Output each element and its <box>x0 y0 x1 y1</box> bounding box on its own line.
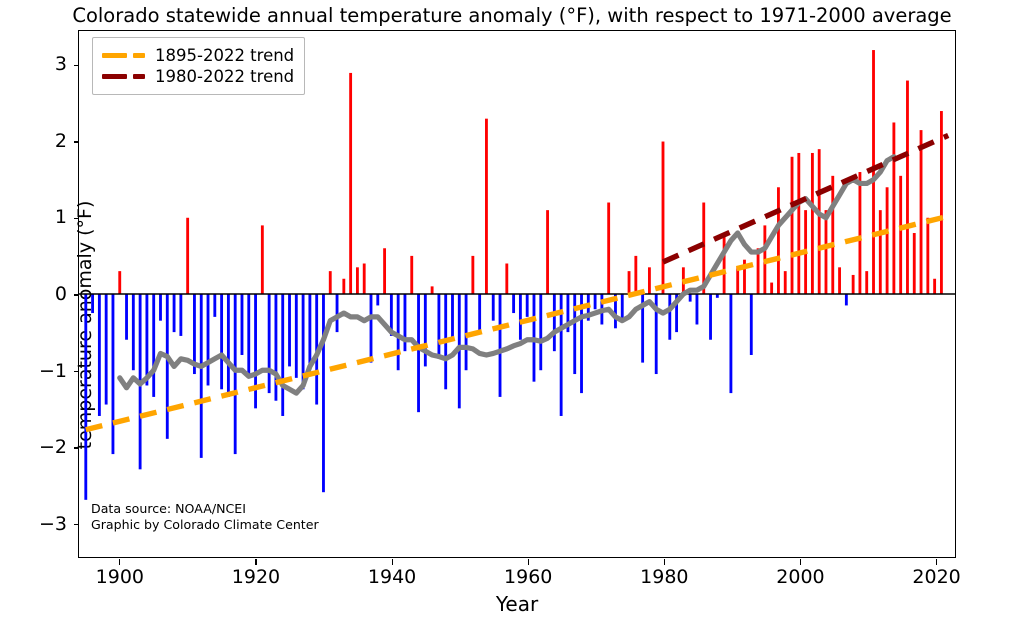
bar <box>173 294 176 332</box>
bar <box>886 187 889 294</box>
bar <box>696 294 699 324</box>
bar <box>254 294 257 408</box>
plot-area: temperature anomaly (°F) −3−2−1012319001… <box>78 30 956 558</box>
y-tick-label: 3 <box>27 55 67 74</box>
bar <box>356 267 359 294</box>
bar <box>797 153 800 294</box>
bar <box>940 111 943 294</box>
bar <box>200 294 203 458</box>
bar <box>662 142 665 294</box>
bar <box>465 294 468 370</box>
bar <box>689 294 692 302</box>
trend-line-long <box>86 216 948 429</box>
legend-swatch-trend-recent <box>102 70 146 84</box>
bar <box>84 294 87 500</box>
x-tick-mark <box>255 559 256 565</box>
page-title: Colorado statewide annual temperature an… <box>0 4 1024 27</box>
bar-series <box>84 50 942 500</box>
bar <box>648 267 651 294</box>
bar <box>342 279 345 294</box>
x-tick-mark <box>392 559 393 565</box>
bar <box>241 294 244 355</box>
bar <box>485 119 488 294</box>
y-tick-label: 0 <box>27 285 67 304</box>
x-tick-mark <box>936 559 937 565</box>
bar <box>539 294 542 370</box>
x-tick-label: 1900 <box>80 567 160 588</box>
bar <box>926 218 929 294</box>
bar <box>417 294 420 412</box>
bar <box>91 294 94 313</box>
bar <box>770 283 773 294</box>
bar <box>261 225 264 294</box>
bar <box>179 294 182 336</box>
bar <box>526 294 529 317</box>
bar <box>145 294 148 385</box>
bar <box>892 122 895 294</box>
chart-canvas <box>79 31 955 557</box>
bar <box>424 294 427 366</box>
bar <box>159 294 162 321</box>
bar <box>553 294 556 351</box>
bar <box>213 294 216 317</box>
bar <box>152 294 155 397</box>
bar <box>220 294 223 389</box>
legend-label-trend-recent: 1980-2022 trend <box>155 67 294 86</box>
bar <box>709 294 712 340</box>
bar <box>492 294 495 321</box>
bar <box>913 233 916 294</box>
bar <box>295 294 298 378</box>
bar <box>478 294 481 332</box>
x-tick-mark <box>528 559 529 565</box>
y-tick-label: 2 <box>27 132 67 151</box>
source-note: Data source: NOAA/NCEI Graphic by Colora… <box>91 501 319 532</box>
x-tick-label: 2020 <box>897 567 977 588</box>
bar <box>634 256 637 294</box>
bar <box>105 294 108 405</box>
bar <box>852 275 855 294</box>
bar <box>363 264 366 294</box>
bar <box>512 294 515 313</box>
bar <box>471 256 474 294</box>
bar <box>920 130 923 294</box>
bar <box>879 210 882 294</box>
bar <box>933 279 936 294</box>
bar <box>831 176 834 294</box>
y-tick-label: −1 <box>27 362 67 381</box>
bar <box>132 294 135 370</box>
bar <box>247 294 250 374</box>
bar <box>859 172 862 294</box>
bar <box>811 153 814 294</box>
bar <box>437 294 440 359</box>
bar <box>404 294 407 351</box>
x-tick-label: 1940 <box>352 567 432 588</box>
bar <box>505 264 508 294</box>
bar <box>166 294 169 439</box>
bar <box>818 149 821 294</box>
bar <box>757 248 760 294</box>
bar <box>838 267 841 294</box>
bar <box>628 271 631 294</box>
bar <box>268 294 271 393</box>
bar <box>750 294 753 355</box>
y-tick-label: −2 <box>27 438 67 457</box>
bar <box>845 294 848 305</box>
bar <box>397 294 400 370</box>
bar <box>125 294 128 340</box>
bar <box>281 294 284 416</box>
bar <box>322 294 325 492</box>
legend: 1895-2022 trend 1980-2022 trend <box>92 37 305 95</box>
bar <box>736 267 739 294</box>
bar <box>899 176 902 294</box>
bar <box>349 73 352 294</box>
y-tick-label: 1 <box>27 208 67 227</box>
bar <box>607 203 610 294</box>
bar <box>308 294 311 370</box>
bar <box>906 81 909 294</box>
legend-swatch-trend-long <box>102 49 146 63</box>
bar <box>336 294 339 332</box>
bar <box>791 157 794 294</box>
bar <box>288 294 291 366</box>
bar <box>376 294 379 305</box>
legend-label-trend-long: 1895-2022 trend <box>155 46 294 65</box>
x-tick-mark <box>800 559 801 565</box>
bar <box>227 294 230 397</box>
bar <box>431 286 434 294</box>
x-axis-label: Year <box>78 592 956 616</box>
bar <box>410 256 413 294</box>
bar <box>234 294 237 454</box>
plot-inner <box>79 31 955 557</box>
bar <box>546 210 549 294</box>
y-tick-label: −3 <box>27 515 67 534</box>
bar <box>777 187 780 294</box>
bar <box>383 248 386 294</box>
bar <box>207 294 210 385</box>
bar <box>451 294 454 340</box>
bar <box>98 294 101 416</box>
bar <box>370 294 373 363</box>
bar <box>186 218 189 294</box>
x-tick-mark <box>119 559 120 565</box>
legend-item[interactable]: 1980-2022 trend <box>102 66 294 87</box>
x-tick-label: 1960 <box>488 567 568 588</box>
bar <box>825 210 828 294</box>
bar <box>112 294 115 454</box>
bar <box>621 294 624 321</box>
bar <box>729 294 732 393</box>
x-tick-label: 1920 <box>216 567 296 588</box>
bar <box>668 294 671 340</box>
bar <box>872 50 875 294</box>
bar <box>594 294 597 309</box>
bar <box>723 233 726 294</box>
bar <box>329 271 332 294</box>
bar <box>118 271 121 294</box>
bar <box>499 294 502 397</box>
legend-item[interactable]: 1895-2022 trend <box>102 45 294 66</box>
bar <box>519 294 522 340</box>
bar <box>865 271 868 294</box>
x-tick-label: 2000 <box>760 567 840 588</box>
bar <box>784 271 787 294</box>
chart-container: Colorado statewide annual temperature an… <box>0 0 1024 630</box>
x-tick-mark <box>664 559 665 565</box>
x-tick-label: 1980 <box>624 567 704 588</box>
